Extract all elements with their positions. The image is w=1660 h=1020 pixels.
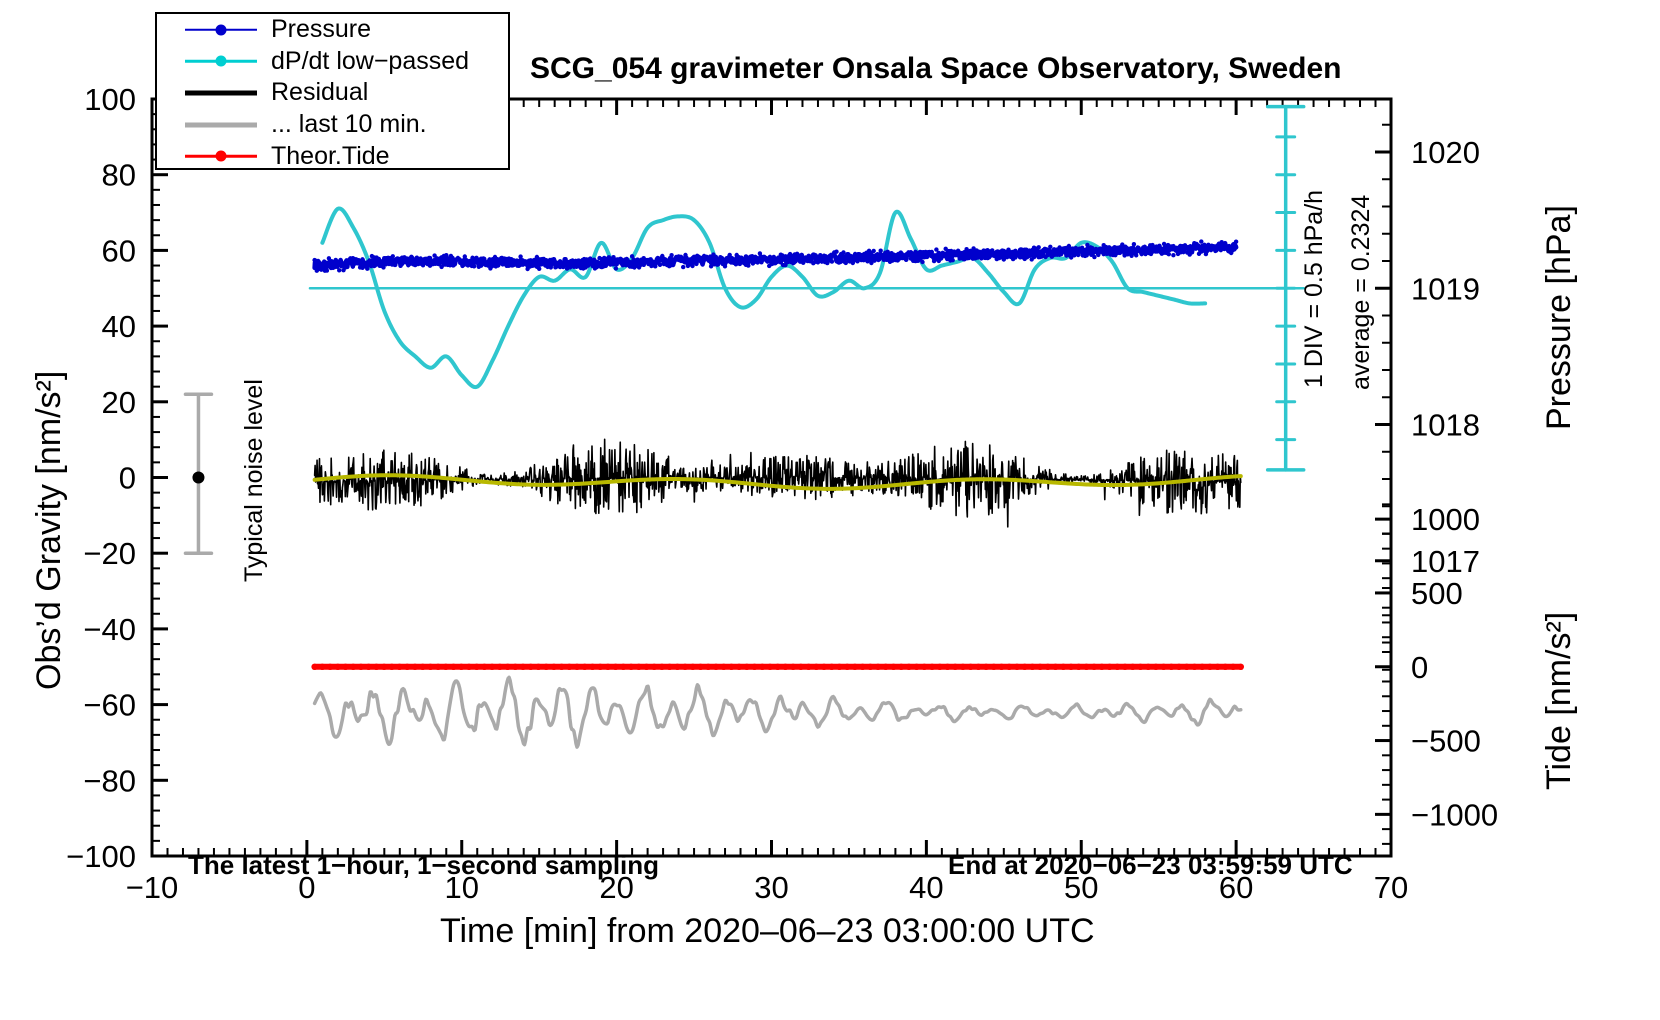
legend-item-pressure: Pressure (157, 14, 508, 46)
series-pressure-point (493, 255, 497, 259)
series-pressure-point (341, 268, 345, 272)
series-tide-point (1207, 664, 1213, 670)
series-pressure-point (1046, 251, 1050, 255)
series-pressure-point (969, 253, 973, 257)
series-tide-point (1029, 664, 1035, 670)
series-tide-point (1060, 664, 1066, 670)
series-tide-point (1191, 664, 1197, 670)
series-tide-point (1137, 664, 1143, 670)
series-tide-point (620, 664, 626, 670)
series-tide-point (713, 664, 719, 670)
series-tide-point (659, 664, 665, 670)
series-tide-point (1222, 664, 1228, 670)
series-tide-point (744, 664, 750, 670)
series-pressure-point (1214, 248, 1218, 252)
series-pressure-point (1074, 248, 1078, 252)
series-pressure-point (472, 264, 476, 268)
series-pressure-point (658, 263, 662, 267)
pressure-tick-label: 1019 (1411, 271, 1480, 306)
series-dpdt-lowpassed (322, 208, 1205, 387)
series-pressure-point (960, 251, 964, 255)
series-tide-point (1037, 664, 1043, 670)
y-tick-label: −40 (83, 612, 136, 647)
series-pressure-point (1067, 244, 1071, 248)
annotation-end-time: End at 2020−06−23 03:59:59 UTC (948, 850, 1353, 881)
y-tick-label: 100 (84, 82, 136, 117)
series-pressure-point (528, 264, 532, 268)
series-tide-point (1130, 664, 1136, 670)
series-tide-point (412, 664, 418, 670)
series-tide-point (983, 664, 989, 670)
series-tide-point (929, 664, 935, 670)
series-pressure-point (937, 259, 941, 263)
series-pressure-point (391, 254, 395, 258)
series-tide-point (651, 664, 657, 670)
series-tide-point (721, 664, 727, 670)
series-pressure-point (1115, 251, 1119, 255)
series-pressure-point (1188, 252, 1192, 256)
series-tide-point (1122, 664, 1128, 670)
series-tide-point (767, 664, 773, 670)
series-tide-point (1176, 664, 1182, 670)
series-tide-point (890, 664, 896, 670)
series-pressure-point (735, 253, 739, 257)
y-tick-label: −60 (83, 688, 136, 723)
series-pressure-point (1160, 252, 1164, 256)
series-pressure-point (609, 260, 613, 264)
series-pressure-point (486, 260, 490, 264)
series-pressure-point (978, 250, 982, 254)
series-pressure-point (746, 263, 750, 267)
series-pressure-point (1071, 253, 1075, 257)
series-tide-point (489, 664, 495, 670)
series-pressure-point (716, 262, 720, 266)
series-pressure-point (997, 256, 1001, 260)
pressure-tick-label: 1020 (1411, 135, 1480, 170)
series-pressure-point (1134, 253, 1138, 257)
series-tide-point (666, 664, 672, 670)
x-tick-label: 30 (754, 870, 788, 905)
series-pressure-point (1076, 253, 1080, 257)
series-tide-point (1091, 664, 1097, 670)
series-tide-point (975, 664, 981, 670)
series-tide-point (1045, 664, 1051, 670)
series-pressure-point (1125, 247, 1129, 251)
series-tide-point (937, 664, 943, 670)
series-pressure-point (558, 259, 562, 263)
legend-label-dpdt: dP/dt low−passed (271, 49, 469, 74)
series-pressure-point (758, 251, 762, 255)
series-pressure-point (1043, 255, 1047, 259)
series-tide-point (728, 664, 734, 670)
series-pressure-point (748, 257, 752, 261)
series-tide-point (859, 664, 865, 670)
legend: Pressure dP/dt low−passed Residual ... l… (155, 12, 510, 170)
series-pressure-point (518, 254, 522, 258)
series-tide-point (443, 664, 449, 670)
series-pressure-point (1122, 253, 1126, 257)
series-pressure-point (1220, 240, 1224, 244)
series-tide-point (1021, 664, 1027, 670)
series-pressure-point (451, 263, 455, 267)
series-tide-point (481, 664, 487, 670)
series-pressure-point (795, 252, 799, 256)
series-tide-point (358, 664, 364, 670)
series-pressure-point (1176, 252, 1180, 256)
series-pressure-point (1199, 239, 1203, 243)
series-pressure-point (1037, 245, 1041, 249)
series-pressure-point (1234, 240, 1238, 244)
series-tide-point (991, 664, 997, 670)
series-tide-point (1160, 664, 1166, 670)
series-pressure-point (723, 264, 727, 268)
series-tide-point (1076, 664, 1082, 670)
series-pressure-point (537, 267, 541, 271)
series-pressure-point (1132, 242, 1136, 246)
series-tide-point (373, 664, 379, 670)
series-pressure-point (918, 250, 922, 254)
legend-swatch-dpdt (185, 53, 257, 69)
series-tide-point (690, 664, 696, 670)
legend-item-dpdt: dP/dt low−passed (157, 46, 508, 78)
series-pressure-point (1183, 243, 1187, 247)
series-tide-point (612, 664, 618, 670)
series-pressure-point (333, 259, 337, 263)
series-tide-point (906, 664, 912, 670)
series-pressure-point (941, 251, 945, 255)
series-tide-point (628, 664, 634, 670)
series-pressure-point (444, 253, 448, 257)
series-pressure-point (1197, 252, 1201, 256)
series-pressure-point (331, 264, 335, 268)
series-tide-point (342, 664, 348, 670)
series-pressure-point (549, 265, 553, 269)
series-pressure-point (618, 257, 622, 261)
series-pressure-point (430, 262, 434, 266)
y-tick-label: 0 (119, 461, 136, 496)
series-pressure-point (867, 249, 871, 253)
series-pressure-point (577, 258, 581, 262)
series-pressure-point (669, 253, 673, 257)
annotation-div-scale: 1 DIV = 0.5 hPa/h (1300, 190, 1329, 388)
series-tide-point (921, 664, 927, 670)
series-tide-point (404, 664, 410, 670)
series-tide-point (636, 664, 642, 670)
series-tide-point (381, 664, 387, 670)
series-pressure-point (1201, 246, 1205, 250)
series-tide-point (535, 664, 541, 670)
series-pressure-point (872, 249, 876, 253)
legend-swatch-pressure (185, 22, 257, 38)
series-tide-point (350, 664, 356, 670)
series-pressure-point (539, 262, 543, 266)
series-pressure-point (906, 250, 910, 254)
series-tide-point (582, 664, 588, 670)
series-pressure-point (711, 252, 715, 256)
series-pressure-point (920, 260, 924, 264)
series-pressure-point (895, 253, 899, 257)
legend-item-theortide: Theor.Tide (157, 140, 508, 172)
series-pressure-point (886, 250, 890, 254)
series-pressure-point (772, 255, 776, 259)
series-pressure-point (834, 250, 838, 254)
series-pressure-point (751, 261, 755, 265)
series-tide-point (705, 664, 711, 670)
legend-label-theortide: Theor.Tide (271, 144, 390, 169)
series-pressure-point (439, 265, 443, 269)
legend-swatch-theortide (185, 148, 257, 164)
series-tide-point (574, 664, 580, 670)
series-tide-point (1014, 664, 1020, 670)
series-tide-point (790, 664, 796, 670)
series-tide-point (967, 664, 973, 670)
series-tide-point (836, 664, 842, 670)
series-pressure-point (1020, 248, 1024, 252)
legend-item-residual: Residual (157, 77, 508, 109)
series-tide-point (1199, 664, 1205, 670)
series-tide-point (1106, 664, 1112, 670)
series-pressure-point (739, 256, 743, 260)
series-tide-point (528, 664, 534, 670)
series-pressure-point (765, 257, 769, 261)
series-pressure-point (1048, 245, 1052, 249)
series-tide-point (420, 664, 426, 670)
series-pressure-point (407, 259, 411, 263)
series-tide-point (1099, 664, 1105, 670)
series-pressure-point (1194, 242, 1198, 246)
y-tick-label: −100 (66, 839, 136, 874)
series-pressure-point (1229, 251, 1233, 255)
series-pressure-point (356, 261, 360, 265)
series-pressure-point (707, 257, 711, 261)
series-pressure-point (544, 258, 548, 262)
series-pressure-point (637, 265, 641, 269)
series-pressure-point (786, 256, 790, 260)
series-pressure-point (388, 259, 392, 263)
series-tide-point (682, 664, 688, 670)
series-pressure-point (1225, 244, 1229, 248)
series-pressure-point (1141, 245, 1145, 249)
series-pressure-point (962, 257, 966, 261)
series-tide-point (883, 664, 889, 670)
series-pressure-point (932, 259, 936, 263)
series-pressure-point (999, 250, 1003, 254)
series-pressure-point (593, 266, 597, 270)
series-pressure-point (374, 255, 378, 259)
series-pressure-point (479, 264, 483, 268)
series-pressure-point (1006, 248, 1010, 252)
series-pressure-point (964, 247, 968, 251)
series-pressure-point (695, 254, 699, 258)
series-pressure-point (393, 262, 397, 266)
series-pressure-point (725, 259, 729, 263)
series-pressure-point (437, 258, 441, 262)
series-tide-point (1230, 664, 1236, 670)
legend-label-residual: Residual (271, 80, 368, 105)
series-pressure-point (1120, 242, 1124, 246)
series-pressure-point (827, 254, 831, 258)
series-pressure-point (628, 260, 632, 264)
series-pressure-point (491, 262, 495, 266)
series-pressure-point (800, 253, 804, 257)
series-tide-point (736, 664, 742, 670)
tide-tick-label: 0 (1411, 650, 1428, 685)
series-pressure-point (718, 255, 722, 259)
series-pressure-point (855, 259, 859, 263)
series-pressure-point (709, 264, 713, 268)
series-pressure-point (930, 250, 934, 254)
series-pressure-point (563, 260, 567, 264)
tide-axis-title: Tide [nm/s²] (1540, 612, 1579, 790)
series-pressure-point (823, 256, 827, 260)
tide-tick-label: 500 (1411, 576, 1463, 611)
series-pressure-point (586, 264, 590, 268)
series-pressure-point (1129, 254, 1133, 258)
tide-tick-label: 1000 (1411, 502, 1480, 537)
series-pressure-point (848, 254, 852, 258)
x-tick-label: −10 (126, 870, 179, 905)
series-pressure-point (481, 259, 485, 263)
series-pressure-point (874, 253, 878, 257)
series-pressure-point (660, 254, 664, 258)
series-pressure-point (365, 267, 369, 271)
series-pressure-point (890, 259, 894, 263)
series-pressure-point (1013, 255, 1017, 259)
series-tide-point (466, 664, 472, 670)
series-pressure-point (667, 264, 671, 268)
series-pressure-point (384, 262, 388, 266)
series-pressure-point (351, 256, 355, 260)
legend-item-last10: ... last 10 min. (157, 109, 508, 141)
series-tide-point (1153, 664, 1159, 670)
series-tide-point (998, 664, 1004, 670)
series-tide-point (944, 664, 950, 670)
series-pressure-point (690, 264, 694, 268)
series-tide-point (450, 664, 456, 670)
series-pressure-point (946, 250, 950, 254)
series-tide-point (782, 664, 788, 670)
tide-tick-label: −500 (1411, 724, 1481, 759)
series-pressure-point (951, 258, 955, 262)
series-pressure-point (1190, 245, 1194, 249)
series-tide-point (867, 664, 873, 670)
series-pressure-point (853, 252, 857, 256)
series-pressure-point (509, 257, 513, 261)
series-pressure-point (974, 256, 978, 260)
series-pressure-point (646, 262, 650, 266)
series-tide-point (605, 664, 611, 670)
series-pressure-point (841, 250, 845, 254)
series-pressure-point (683, 253, 687, 257)
series-pressure-point (456, 256, 460, 260)
series-pressure-point (1204, 252, 1208, 256)
series-pressure-point (535, 255, 539, 259)
series-tide-point (1184, 664, 1190, 670)
series-pressure-point (449, 254, 453, 258)
x-tick-label: 70 (1374, 870, 1408, 905)
series-tide-point (960, 664, 966, 670)
series-pressure-point (1139, 250, 1143, 254)
series-pressure-point (1090, 246, 1094, 250)
series-pressure-point (737, 261, 741, 265)
series-pressure-point (1102, 243, 1106, 247)
series-pressure-point (1136, 246, 1140, 250)
series-pressure-point (523, 261, 527, 265)
x-tick-label: 40 (909, 870, 943, 905)
series-pressure-point (651, 260, 655, 264)
series-pressure-point (551, 259, 555, 263)
series-tide-point (1214, 664, 1220, 670)
annotation-average: average = 0.2324 (1347, 195, 1376, 390)
series-pressure-point (632, 265, 636, 269)
series-pressure-point (460, 264, 464, 268)
series-pressure-point (409, 255, 413, 259)
y-axis-title: Obs’d Gravity [nm/s²] (30, 371, 69, 690)
series-pressure-point (446, 259, 450, 263)
y-tick-label: 60 (102, 233, 136, 268)
series-tide-point (952, 664, 958, 670)
annotation-sampling-note: The latest 1−hour, 1−second sampling (188, 850, 659, 881)
series-tide-point (829, 664, 835, 670)
series-tide-point (497, 664, 503, 670)
series-last-10-min (315, 677, 1241, 747)
series-pressure-point (916, 259, 920, 263)
pressure-axis-title: Pressure [hPa] (1540, 205, 1579, 430)
series-pressure-point (1083, 254, 1087, 258)
tide-tick-label: −1000 (1411, 797, 1498, 832)
series-pressure-point (317, 261, 321, 265)
series-tide-point (335, 664, 341, 670)
series-tide-point (875, 664, 881, 670)
series-pressure-point (700, 259, 704, 263)
series-pressure-point (335, 264, 339, 268)
series-pressure-point (1081, 250, 1085, 254)
x-axis-title: Time [min] from 2020–06–23 03:00:00 UTC (440, 912, 1095, 951)
series-tide-point (1168, 664, 1174, 670)
series-pressure-point (732, 258, 736, 262)
series-tide-point (1052, 664, 1058, 670)
series-tide-point (798, 664, 804, 670)
series-tide-point (775, 664, 781, 670)
series-pressure-point (769, 262, 773, 266)
series-pressure-point (574, 265, 578, 269)
legend-swatch-residual (185, 85, 257, 101)
series-tide-point (813, 664, 819, 670)
series-tide-point (805, 664, 811, 670)
series-pressure-point (498, 260, 502, 264)
series-pressure-point (588, 256, 592, 260)
y-tick-label: 40 (102, 309, 136, 344)
series-tide-point (435, 664, 441, 670)
series-pressure-point (971, 246, 975, 250)
series-tide-point (543, 664, 549, 670)
series-pressure-point (811, 261, 815, 265)
series-tide-point (898, 664, 904, 670)
series-tide-point (520, 664, 526, 670)
annotation-noise-level: Typical noise level (240, 379, 269, 582)
series-pressure-point (653, 264, 657, 268)
series-tide-point (597, 664, 603, 670)
y-tick-label: −80 (83, 763, 136, 798)
series-pressure-point (595, 261, 599, 265)
series-pressure-point (934, 247, 938, 251)
series-pressure-point (679, 255, 683, 259)
series-pressure-point (614, 266, 618, 270)
y-tick-label: 20 (102, 385, 136, 420)
legend-label-last10: ... last 10 min. (271, 112, 427, 137)
series-pressure-point (1002, 257, 1006, 261)
series-pressure-point (1050, 254, 1054, 258)
